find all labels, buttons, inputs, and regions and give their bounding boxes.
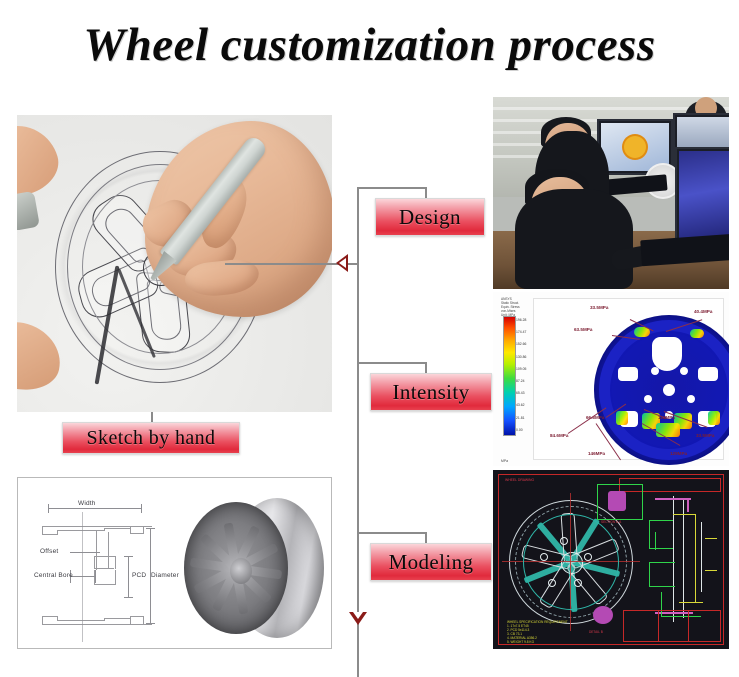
legend-tick: 109.05	[516, 363, 532, 375]
connector-intensity-horizontal	[357, 362, 427, 364]
spec-label-central-bore: Central Bore	[34, 572, 73, 579]
legend-tick: 196.28	[516, 314, 532, 326]
designer-body	[515, 189, 633, 289]
fea-annotation: 113MPa	[658, 415, 675, 420]
cad-drawing-panel: WHEEL DRAWING SECTION A-A DETAIL B	[493, 470, 729, 649]
monitor	[675, 147, 729, 247]
fea-annotation: 40.4MPa	[694, 309, 712, 314]
cad-notes-block: WHEEL SPECIFICATION REQUIREMENT 1. 17x7.…	[507, 620, 599, 644]
cad-detail-label: SECTION A-A	[601, 520, 621, 524]
spec-label-offset: Offset	[40, 548, 58, 555]
legend-tick: 65.43	[516, 387, 532, 399]
legend-tick: 0.00	[516, 424, 532, 436]
cad-section-profile	[643, 492, 721, 626]
connector-trunk	[357, 188, 359, 677]
page-title: Wheel customization process	[0, 18, 739, 72]
fea-annotation: 129MPa	[670, 451, 687, 456]
wheel-3d-render	[178, 494, 326, 642]
office-photo-panel	[493, 97, 729, 289]
legend-tick: 87.24	[516, 375, 532, 387]
cad-detail-view-top	[597, 484, 643, 520]
spec-label-width: Width	[78, 500, 96, 507]
spec-label-pcd: PCD	[132, 572, 146, 579]
arrow-left-icon	[336, 254, 348, 272]
legend-tick: 174.47	[516, 326, 532, 338]
legend-tick: 130.86	[516, 351, 532, 363]
arrow-down-icon	[349, 612, 367, 625]
fea-wheel-model	[594, 315, 729, 465]
fea-center-bore	[663, 384, 675, 396]
fea-legend-unit: MPa	[501, 459, 508, 463]
fea-annotation: 146MPa	[588, 451, 605, 456]
label-intensity[interactable]: Intensity	[370, 373, 492, 411]
fea-plot-area: 33.5MPa 63.5MPa 40.4MPa 66.8MPa 113MPa 8…	[533, 298, 724, 460]
label-sketch-by-hand[interactable]: Sketch by hand	[62, 422, 240, 454]
wheel-spec-diagram-panel: Width Offset Central Bore PCD Diameter	[17, 477, 332, 649]
cad-note: 5. WEIGHT 9.8 KG	[507, 640, 599, 644]
cad-hub-circle	[561, 552, 583, 574]
legend-tick: 152.66	[516, 338, 532, 350]
fea-annotation: 33.5MPa	[590, 305, 608, 310]
fea-annotation: 84.6MPa	[550, 433, 568, 438]
connector-design-horizontal	[357, 187, 427, 189]
spec-diagram-inner: Width Offset Central Bore PCD Diameter	[22, 482, 327, 644]
cad-title-block	[623, 610, 721, 642]
fea-annotation: 33.5MPa	[696, 433, 714, 438]
flowchart-stage: Wheel customization process Sketch by ha…	[0, 0, 739, 677]
cad-header-text: WHEEL DRAWING	[505, 478, 534, 482]
fea-analysis-panel: ANSYSStatic Struct.Equiv. Stressvon-Mise…	[493, 292, 729, 466]
wheel-face	[184, 502, 288, 634]
legend-tick: 21.81	[516, 412, 532, 424]
legend-tick: 43.62	[516, 399, 532, 411]
wheel-cross-section: Width Offset Central Bore PCD Diameter	[36, 496, 164, 640]
label-modeling[interactable]: Modeling	[370, 543, 492, 581]
fea-color-legend	[503, 316, 516, 436]
label-design[interactable]: Design	[375, 198, 485, 236]
fea-annotation: 63.5MPa	[574, 327, 592, 332]
spec-label-diameter: Diameter	[151, 572, 179, 579]
fea-legend-ticks: 196.28 174.47 152.66 130.86 109.05 87.24…	[516, 314, 532, 438]
connector-modeling-horizontal	[357, 532, 427, 534]
wheel-center-cap	[230, 558, 252, 584]
